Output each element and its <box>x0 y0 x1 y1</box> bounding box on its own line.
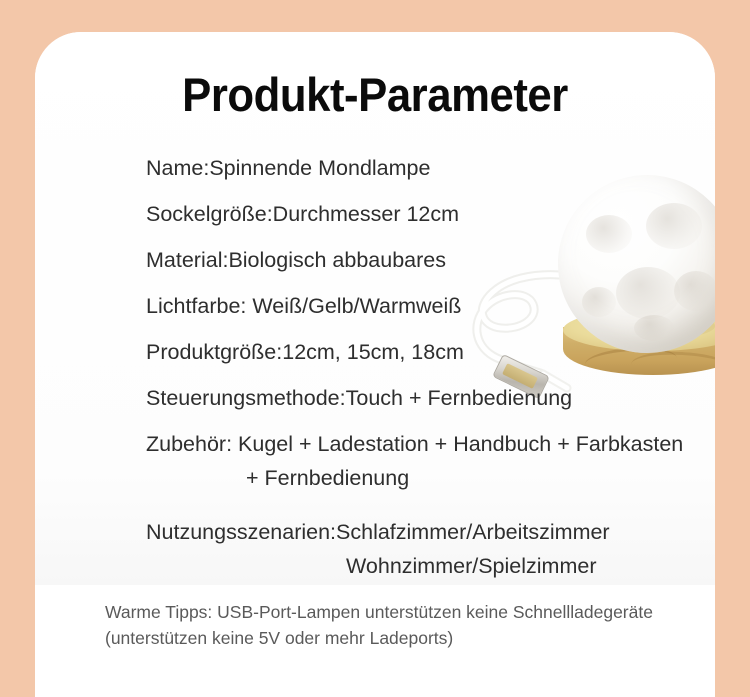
spec-line-usage: Nutzungsszenarien:Schlafzimmer/Arbeitszi… <box>35 501 715 589</box>
warm-tips-line-2: (unterstützen keine 5V oder mehr Ladepor… <box>105 625 705 651</box>
spec-line-base-size: Sockelgröße:Durchmesser 12cm <box>35 191 715 237</box>
accessories-line-1: Zubehör: Kugel + Ladestation + Handbuch … <box>146 432 683 456</box>
page-title: Produkt-Parameter <box>59 70 691 120</box>
spec-line-name: Name:Spinnende Mondlampe <box>35 145 715 191</box>
spec-line-accessories: Zubehör: Kugel + Ladestation + Handbuch … <box>35 421 715 501</box>
spec-list: Name:Spinnende Mondlampe Sockelgröße:Dur… <box>35 145 715 589</box>
warm-tips-note: Warme Tipps: USB-Port-Lampen unterstütze… <box>105 599 705 651</box>
usage-line-2: Wohnzimmer/Spielzimmer <box>146 549 715 583</box>
spec-line-control-method: Steuerungsmethode:Touch + Fernbedienung <box>35 375 715 421</box>
product-parameter-card: Produkt-Parameter Name:Spinnende Mo <box>35 32 715 697</box>
accessories-line-2: + Fernbedienung <box>146 461 715 495</box>
spec-line-material: Material:Biologisch abbaubares <box>35 237 715 283</box>
spec-line-product-size: Produktgröße:12cm, 15cm, 18cm <box>35 329 715 375</box>
warm-tips-line-1: Warme Tipps: USB-Port-Lampen unterstütze… <box>105 599 705 625</box>
usage-line-1: Nutzungsszenarien:Schlafzimmer/Arbeitszi… <box>146 520 610 544</box>
spec-line-light-color: Lichtfarbe: Weiß/Gelb/Warmweiß <box>35 283 715 329</box>
